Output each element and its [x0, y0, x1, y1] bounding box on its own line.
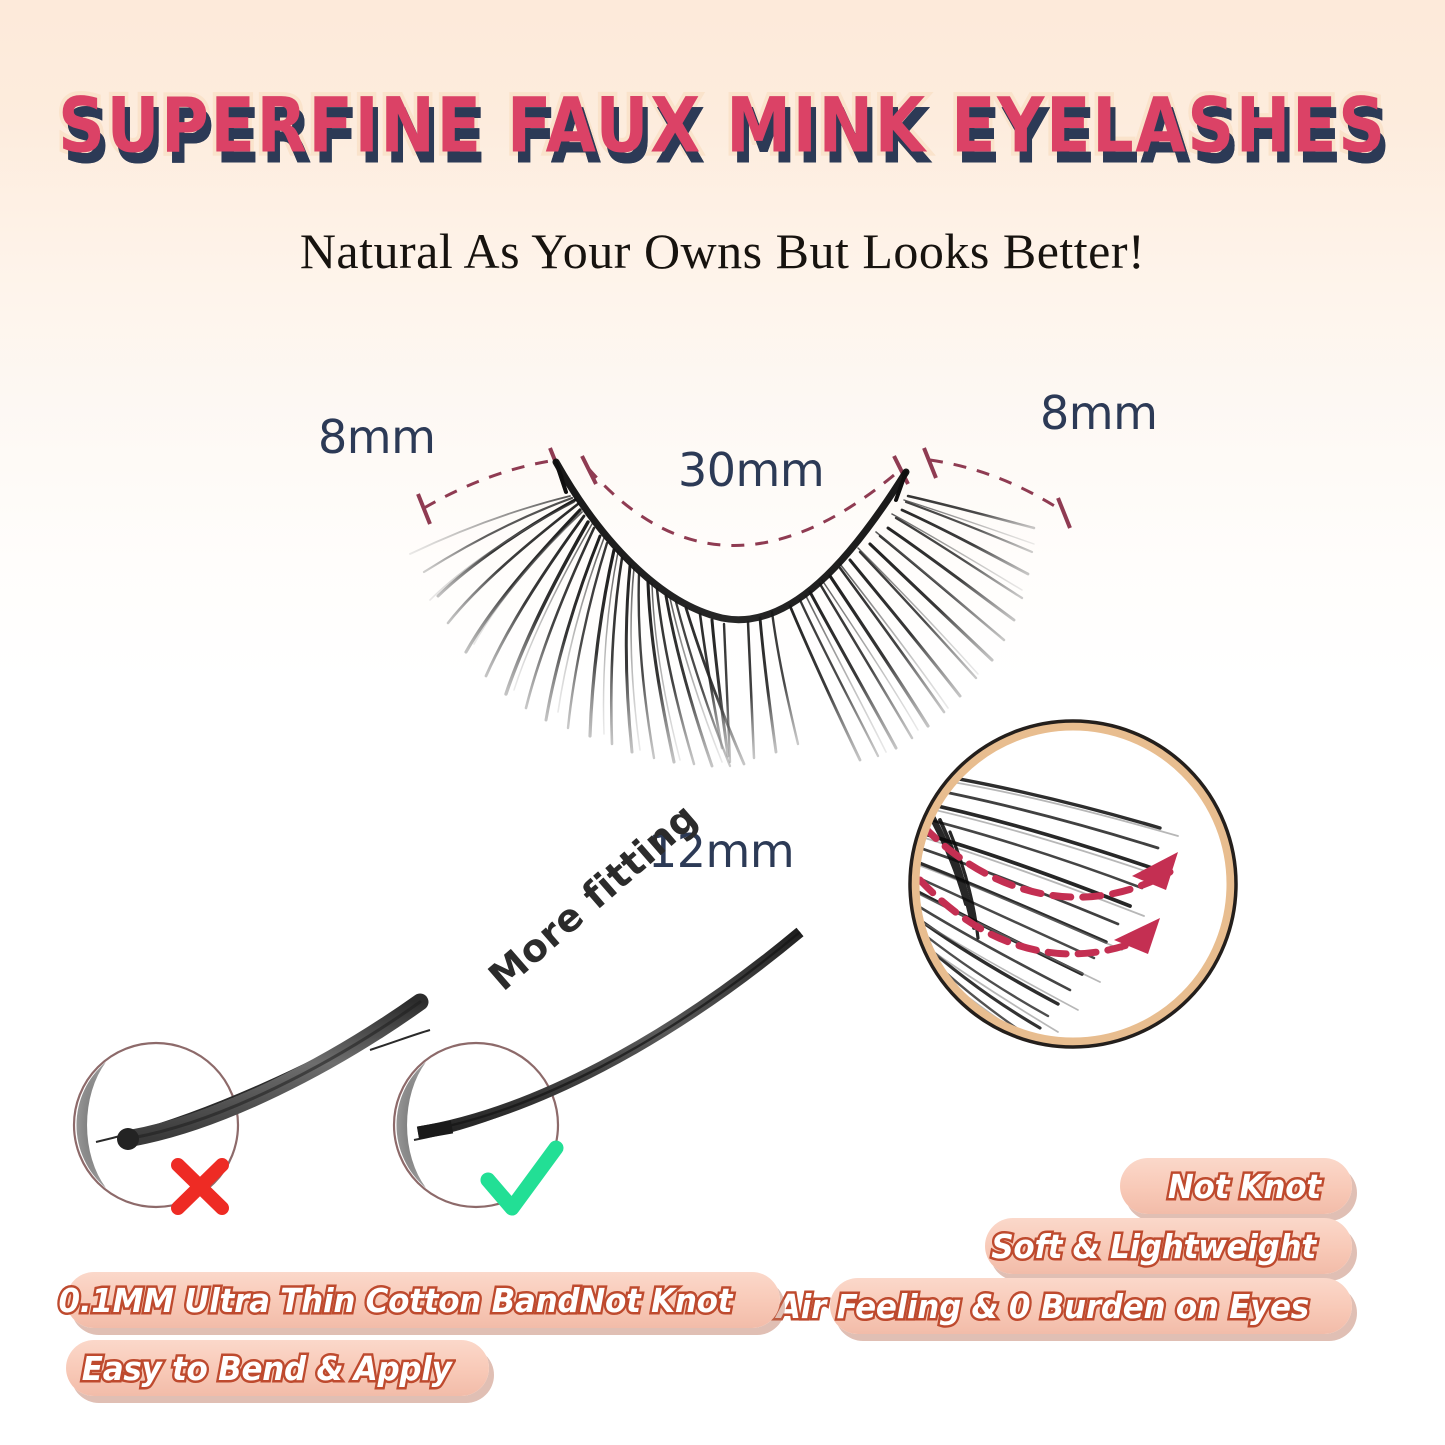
badge-label: Air Feeling & 0 Burden on Eyes	[777, 1287, 1309, 1326]
cross-icon	[178, 1165, 222, 1208]
badge-cotton-band: 0.1MM Ultra Thin Cotton BandNot Knot	[66, 1272, 780, 1328]
arrow-head-lower	[1114, 918, 1160, 954]
product-infographic: SUPERFINE FAUX MINK EYELASHES Natural As…	[0, 0, 1445, 1445]
measure-label-band-width: 30mm	[678, 443, 824, 497]
badge-label: 0.1MM Ultra Thin Cotton BandNot Knot	[59, 1281, 733, 1320]
more-fitting-label: More fitting	[480, 795, 706, 999]
lash-detail-magnifier	[896, 721, 1236, 1076]
arrow-head-upper	[1132, 852, 1178, 890]
badge-easy-bend: Easy to Bend & Apply	[66, 1340, 489, 1396]
page-subtitle: Natural As Your Owns But Looks Better!	[0, 222, 1445, 280]
lash-strip-illustration	[410, 462, 1034, 766]
badge-label: Not Knot	[1168, 1167, 1321, 1206]
page-title: SUPERFINE FAUX MINK EYELASHES	[58, 88, 1387, 167]
comparison-bad	[74, 1000, 424, 1208]
measure-label-right-span: 8mm	[1040, 386, 1157, 440]
badge-label: Easy to Bend & Apply	[81, 1349, 451, 1388]
badge-not-knot: Not Knot	[1120, 1158, 1352, 1214]
badge-soft-lightweight: Soft & Lightweight	[985, 1218, 1352, 1274]
check-icon	[488, 1148, 556, 1208]
badge-air-feeling: Air Feeling & 0 Burden on Eyes	[830, 1278, 1352, 1334]
direction-arrows	[920, 826, 1170, 954]
comparison-good	[370, 932, 800, 1208]
title-block: SUPERFINE FAUX MINK EYELASHES	[0, 88, 1445, 155]
badge-label: Soft & Lightweight	[991, 1227, 1316, 1266]
measure-label-left-span: 8mm	[318, 410, 435, 464]
